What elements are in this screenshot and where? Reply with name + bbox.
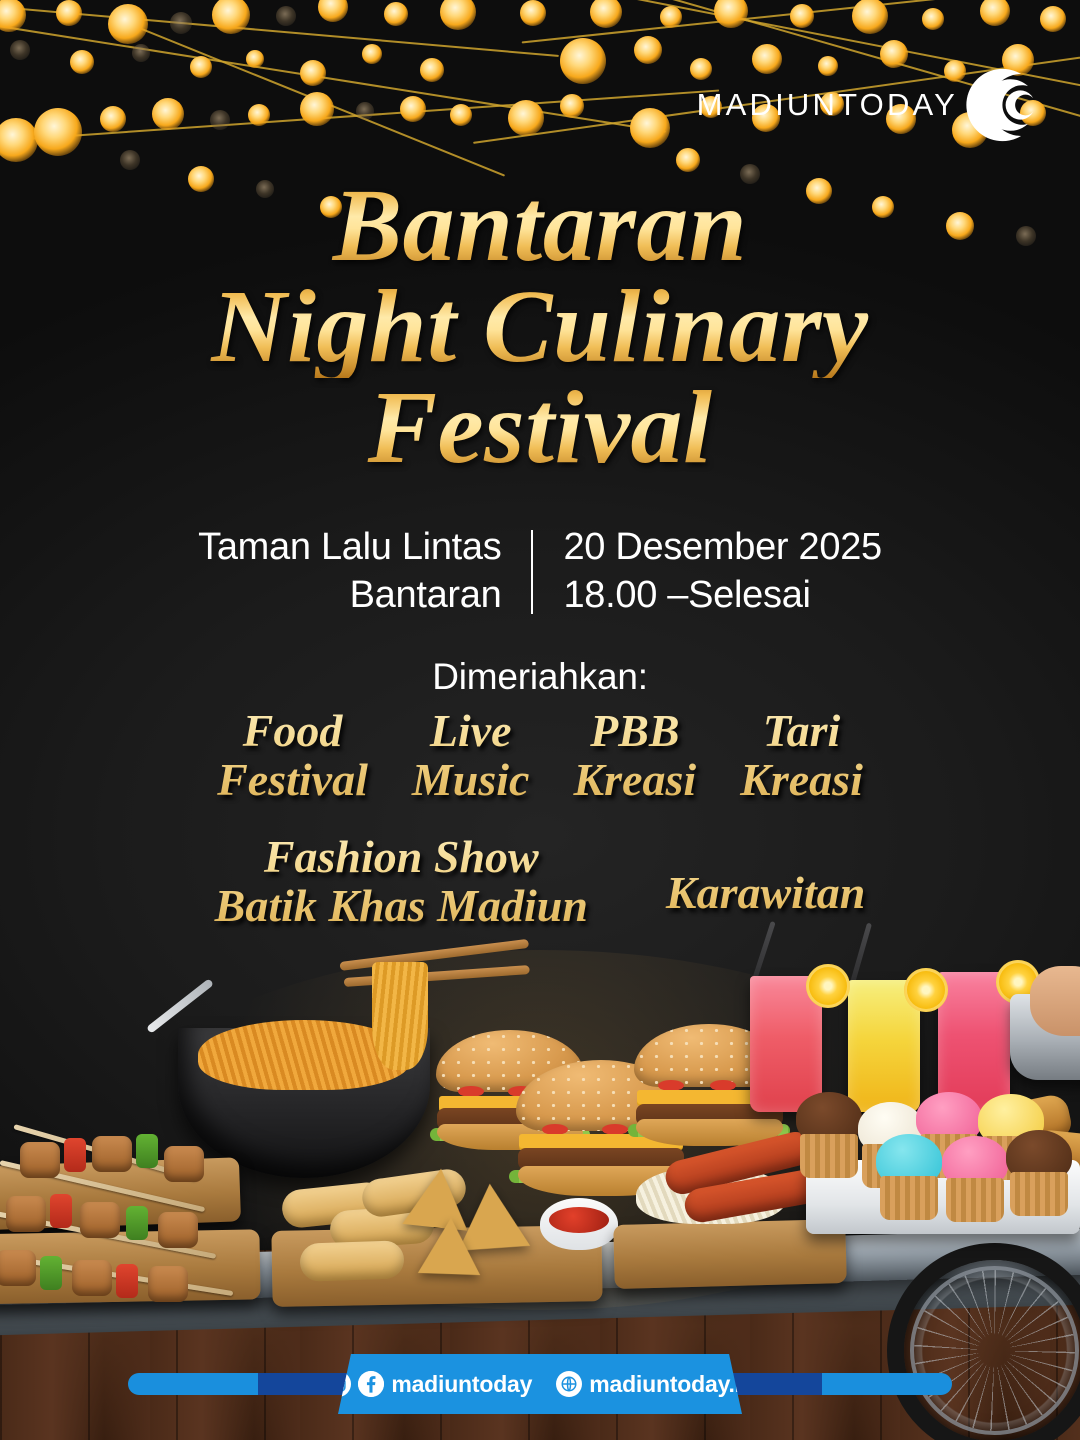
- event-details: Taman Lalu Lintas Bantaran 20 Desember 2…: [0, 524, 1080, 620]
- satay-meat: [6, 1196, 46, 1232]
- swoosh-crescent-icon: [954, 62, 1040, 148]
- satay-pepper-red: [50, 1194, 72, 1228]
- title-line-2: Night Culinary: [0, 277, 1080, 378]
- satay-pepper-green: [136, 1134, 158, 1168]
- samosa: [418, 1217, 482, 1275]
- poster-canvas: MADIUNTODAY Bantaran Night Culinary Fest…: [0, 0, 1080, 1440]
- lemon-slice: [904, 968, 948, 1012]
- lineup-item-karawitan: Karawitan: [614, 832, 891, 917]
- venue-line-2: Bantaran: [198, 572, 501, 620]
- venue-line-1: Taman Lalu Lintas: [198, 524, 501, 572]
- spring-roll: [299, 1240, 404, 1282]
- lineup-label: Dimeriahkan:: [0, 656, 1080, 698]
- bar-segment-light-blue-right: [822, 1373, 952, 1395]
- dipping-sauce-bowl: [540, 1198, 618, 1250]
- lineup-item-pbb-kreasi: PBBKreasi: [551, 706, 718, 804]
- event-date: 20 Desember 2025: [563, 524, 881, 572]
- title-line-3: Festival: [0, 378, 1080, 479]
- satay-meat: [72, 1260, 112, 1296]
- cupcake-chocolate: [796, 1092, 862, 1178]
- lineup-item-live-music: LiveMusic: [390, 706, 552, 804]
- bar-segment-light-blue-left: [128, 1373, 258, 1395]
- event-time: 18.00 –Selesai: [563, 572, 881, 620]
- satay-pepper-red: [64, 1138, 86, 1172]
- datetime-block: 20 Desember 2025 18.00 –Selesai: [533, 524, 881, 620]
- satay-meat: [0, 1250, 36, 1286]
- satay-meat: [92, 1136, 132, 1172]
- satay-meat: [80, 1202, 120, 1238]
- website-url[interactable]: madiuntoday.id: [589, 1371, 754, 1398]
- lemon-slice: [806, 964, 850, 1008]
- title-line-1: Bantaran: [0, 176, 1080, 277]
- satay-meat: [20, 1142, 60, 1178]
- lineup-row-1: FoodFestival LiveMusic PBBKreasi TariKre…: [0, 706, 1080, 804]
- bar-segment-dark-blue-left: [258, 1373, 348, 1395]
- satay-pepper-green: [126, 1206, 148, 1240]
- social-handle[interactable]: madiuntoday: [391, 1371, 532, 1398]
- noodle-strands: [372, 962, 428, 1070]
- cupcake-pink-2: [942, 1136, 1008, 1222]
- social-instagram-facebook-group[interactable]: madiuntoday: [325, 1371, 532, 1398]
- brand-logo: MADIUNTODAY: [697, 62, 1040, 148]
- satay-pepper-red: [116, 1264, 138, 1298]
- brand-logo-text: MADIUNTODAY: [697, 87, 958, 123]
- bar-segment-dark-blue-right: [732, 1373, 822, 1395]
- satay-meat: [148, 1266, 188, 1302]
- drink-straw: [849, 923, 872, 988]
- footer-social-banner: madiuntoday madiuntoday.id: [338, 1354, 742, 1414]
- satay-meat: [164, 1146, 204, 1182]
- satay-pepper-green: [40, 1256, 62, 1290]
- satay-meat: [158, 1212, 198, 1248]
- lineup-item-food-festival: FoodFestival: [195, 706, 390, 804]
- cupcake-blue: [876, 1134, 942, 1220]
- cupcake-chocolate-2: [1006, 1130, 1072, 1216]
- globe-icon[interactable]: [556, 1371, 582, 1397]
- website-group[interactable]: madiuntoday.id: [556, 1371, 754, 1398]
- lineup-item-tari-kreasi: TariKreasi: [718, 706, 885, 804]
- facebook-icon[interactable]: [358, 1371, 384, 1397]
- event-title: Bantaran Night Culinary Festival: [0, 176, 1080, 479]
- venue-block: Taman Lalu Lintas Bantaran: [198, 524, 531, 620]
